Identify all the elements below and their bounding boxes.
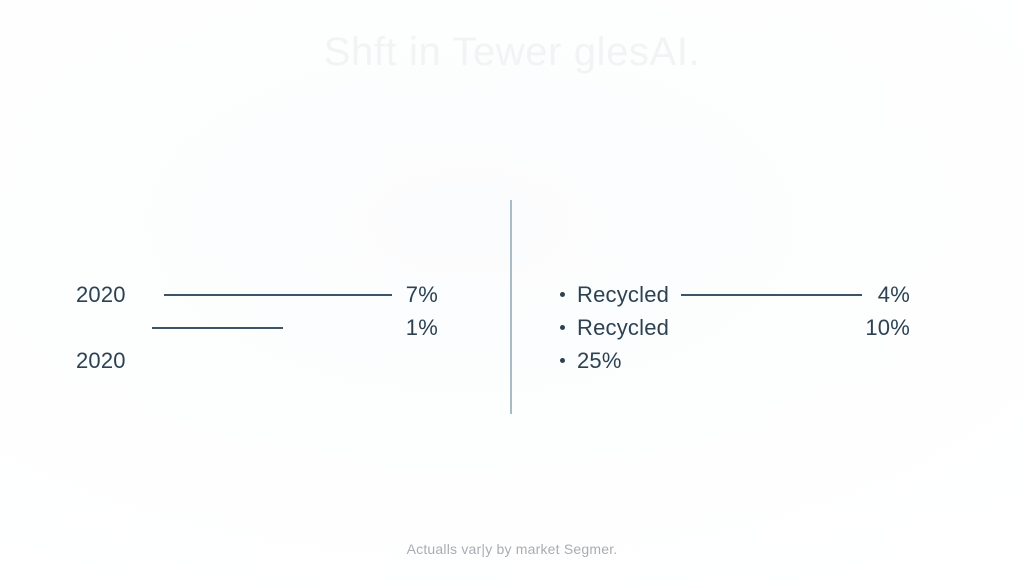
bullet-icon	[560, 292, 565, 297]
row-label: 2020	[76, 282, 152, 308]
row-value: 1%	[404, 315, 438, 341]
leader-spacer	[681, 327, 846, 329]
leader-line	[152, 327, 283, 329]
leader-line	[681, 294, 862, 296]
left-column: 2020 7% 1% 2020	[76, 278, 438, 377]
leader-spacer	[307, 327, 392, 329]
list-item: Recycled 4%	[560, 278, 910, 311]
row-label: 2020	[76, 348, 152, 374]
leader-line	[164, 294, 392, 296]
row-value: 4%	[874, 282, 910, 308]
bullet-icon	[560, 358, 565, 363]
list-item: Recycled 10%	[560, 311, 910, 344]
slide-title: Shft in Tewer glesAI.	[0, 28, 1024, 76]
list-item: 2020 7%	[76, 278, 438, 311]
row-value: 7%	[404, 282, 438, 308]
leader-spacer	[164, 360, 392, 362]
right-column: Recycled 4% Recycled 10% 25%	[560, 278, 910, 377]
bullet-icon	[560, 325, 565, 330]
row-label: 25%	[577, 348, 622, 374]
list-item: 25%	[560, 344, 910, 377]
column-divider	[510, 200, 512, 414]
slide-footnote: Actualls var|y by market Segmer.	[0, 541, 1024, 557]
row-label: Recycled	[577, 315, 669, 341]
list-item: 1%	[76, 311, 438, 344]
row-label: Recycled	[577, 282, 669, 308]
list-item: 2020	[76, 344, 438, 377]
slide-canvas: Shft in Tewer glesAI. 2020 7% 1% 2020 Re…	[0, 0, 1024, 585]
leader-spacer	[634, 360, 862, 362]
row-value: 10%	[858, 315, 910, 341]
